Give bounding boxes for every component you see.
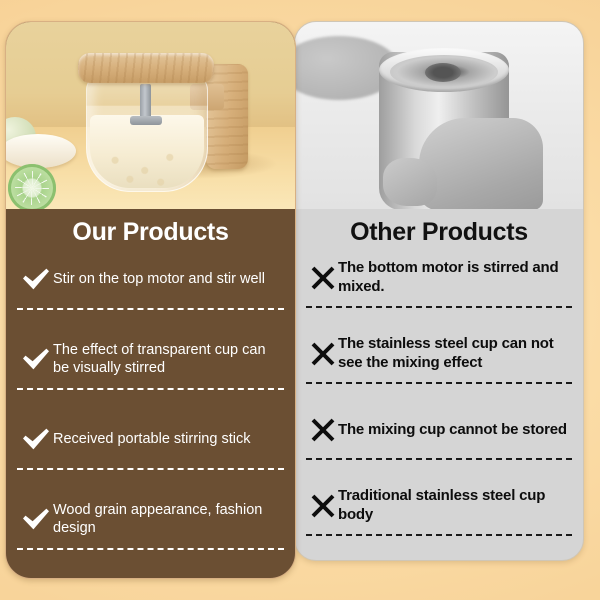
stirring-shaft [140, 84, 151, 120]
cross-icon [308, 341, 338, 367]
list-item: The effect of transparent cup can be vis… [6, 330, 295, 388]
list-item: Traditional stainless steel cup body [295, 478, 583, 534]
cross-icon [308, 493, 338, 519]
other-products-panel: Other Products The bottom motor is stirr… [294, 21, 584, 561]
our-products-panel: Our Products Stir on the top motor and s… [5, 21, 296, 579]
check-icon [19, 426, 53, 452]
hand [419, 118, 543, 209]
list-item-label: The stainless steel cup can not see the … [338, 335, 571, 373]
wooden-lid [78, 53, 214, 83]
check-icon [19, 506, 53, 532]
check-icon [19, 346, 53, 372]
list-item-label: Traditional stainless steel cup body [338, 487, 571, 525]
cross-icon [308, 265, 338, 291]
list-item-label: Wood grain appearance, fashion design [53, 501, 283, 538]
list-item: The stainless steel cup can not see the … [295, 326, 583, 382]
list-item-label: Stir on the top motor and stir well [53, 270, 265, 288]
check-icon [19, 266, 53, 292]
wooden-handle [206, 64, 248, 169]
thumb [383, 158, 437, 206]
row-spacer [295, 308, 583, 326]
list-item-label: The effect of transparent cup can be vis… [53, 341, 283, 378]
our-product-photo [6, 22, 295, 209]
list-item-label: Received portable stirring stick [53, 430, 250, 448]
row-separator [17, 548, 284, 550]
list-item: Stir on the top motor and stir well [6, 250, 295, 308]
list-item-label: The bottom motor is stirred and mixed. [338, 259, 571, 297]
row-spacer [6, 470, 295, 490]
row-spacer [6, 390, 295, 410]
row-separator [306, 534, 572, 536]
list-item: The mixing cup cannot be stored [295, 402, 583, 458]
other-product-photo [295, 22, 583, 209]
list-item: Wood grain appearance, fashion design [6, 490, 295, 548]
our-products-feature-list: Stir on the top motor and stir well The … [6, 250, 295, 550]
our-products-heading: Our Products [6, 209, 295, 247]
list-item: Received portable stirring stick [6, 410, 295, 468]
row-spacer [295, 460, 583, 478]
row-spacer [6, 310, 295, 330]
stirring-vortex [425, 63, 461, 82]
stirring-blade [130, 116, 162, 125]
other-products-heading: Other Products [295, 209, 583, 247]
other-products-feature-list: The bottom motor is stirred and mixed. T… [295, 250, 583, 536]
lime-slice-decor [8, 164, 56, 209]
list-item-label: The mixing cup cannot be stored [338, 421, 567, 440]
list-item: The bottom motor is stirred and mixed. [295, 250, 583, 306]
cross-icon [308, 417, 338, 443]
mug-contents [90, 115, 204, 188]
row-spacer [295, 384, 583, 402]
